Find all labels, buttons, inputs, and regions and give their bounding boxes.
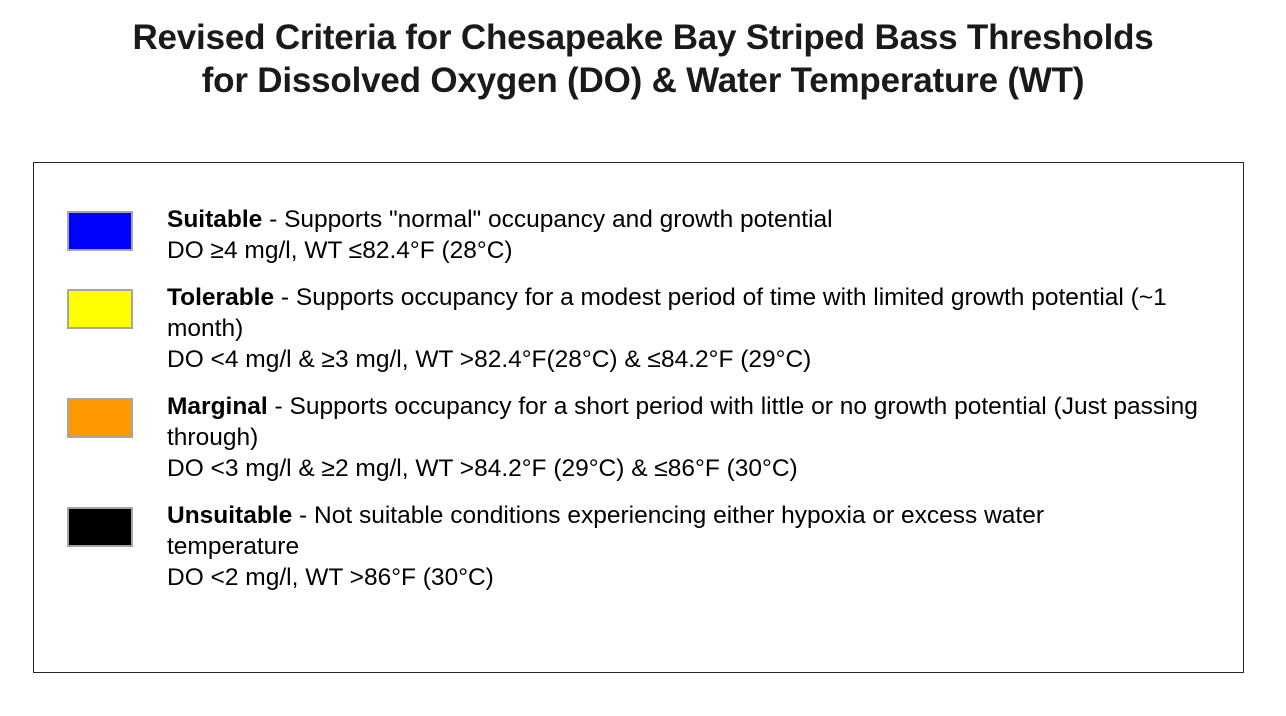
suitable-term: Suitable [167, 206, 262, 233]
tolerable-swatch-container [67, 282, 167, 329]
unsuitable-term: Unsuitable [167, 502, 292, 529]
suitable-text: Suitable - Supports "normal" occupancy a… [167, 204, 1177, 266]
legend-list: Suitable - Supports "normal" occupancy a… [34, 163, 1243, 609]
marginal-text: Marginal - Supports occupancy for a shor… [167, 391, 1209, 484]
tolerable-values: DO <4 mg/l & ≥3 mg/l, WT >82.4°F(28°C) &… [167, 344, 1225, 375]
unsuitable-values: DO <2 mg/l, WT >86°F (30°C) [167, 562, 1139, 593]
marginal-description: Supports occupancy for a short period wi… [167, 393, 1198, 451]
tolerable-separator: - [274, 284, 296, 311]
unsuitable-separator: - [292, 502, 314, 529]
tolerable-description-line: Tolerable - Supports occupancy for a mod… [167, 282, 1225, 344]
suitable-description-line: Suitable - Supports "normal" occupancy a… [167, 204, 1177, 235]
suitable-separator: - [262, 206, 284, 233]
marginal-color-swatch [67, 398, 133, 438]
unsuitable-text: Unsuitable - Not suitable conditions exp… [167, 500, 1139, 593]
legend-item-marginal: Marginal - Supports occupancy for a shor… [34, 391, 1243, 484]
marginal-term: Marginal [167, 393, 268, 420]
suitable-color-swatch [67, 211, 133, 251]
unsuitable-color-swatch [67, 507, 133, 547]
suitable-values: DO ≥4 mg/l, WT ≤82.4°F (28°C) [167, 235, 1177, 266]
marginal-description-line: Marginal - Supports occupancy for a shor… [167, 391, 1209, 453]
tolerable-color-swatch [67, 289, 133, 329]
legend-item-suitable: Suitable - Supports "normal" occupancy a… [34, 204, 1243, 266]
suitable-swatch-container [67, 204, 167, 251]
marginal-values: DO <3 mg/l & ≥2 mg/l, WT >84.2°F (29°C) … [167, 453, 1209, 484]
tolerable-text: Tolerable - Supports occupancy for a mod… [167, 282, 1225, 375]
unsuitable-swatch-container [67, 500, 167, 547]
suitable-description: Supports "normal" occupancy and growth p… [284, 206, 833, 233]
page-title: Revised Criteria for Chesapeake Bay Stri… [0, 0, 1286, 102]
legend-item-tolerable: Tolerable - Supports occupancy for a mod… [34, 282, 1243, 375]
unsuitable-description-line: Unsuitable - Not suitable conditions exp… [167, 500, 1139, 562]
tolerable-description: Supports occupancy for a modest period o… [167, 284, 1167, 342]
marginal-swatch-container [67, 391, 167, 438]
legend-item-unsuitable: Unsuitable - Not suitable conditions exp… [34, 500, 1243, 593]
marginal-separator: - [268, 393, 290, 420]
tolerable-term: Tolerable [167, 284, 274, 311]
legend-panel: Suitable - Supports "normal" occupancy a… [33, 162, 1244, 673]
